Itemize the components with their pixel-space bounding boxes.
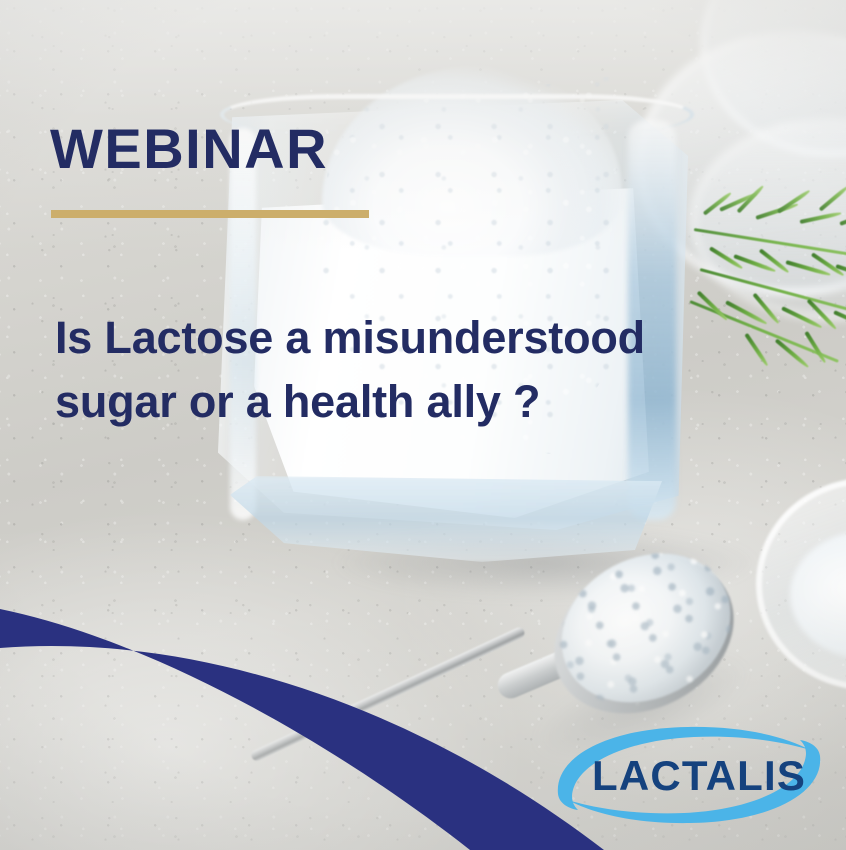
- page-title: Is Lactose a misunderstood sugar or a he…: [55, 306, 715, 434]
- eyebrow-webinar-label: WEBINAR: [50, 121, 328, 177]
- lactalis-logo: LACTALIS: [548, 722, 830, 828]
- headline-line-2: sugar or a health ally ?: [55, 370, 715, 434]
- headline-line-1: Is Lactose a misunderstood: [55, 306, 715, 370]
- gold-divider-rule: [51, 210, 369, 218]
- webinar-banner: WEBINAR Is Lactose a misunderstood sugar…: [0, 0, 846, 850]
- lactalis-wordmark: LACTALIS: [592, 755, 806, 797]
